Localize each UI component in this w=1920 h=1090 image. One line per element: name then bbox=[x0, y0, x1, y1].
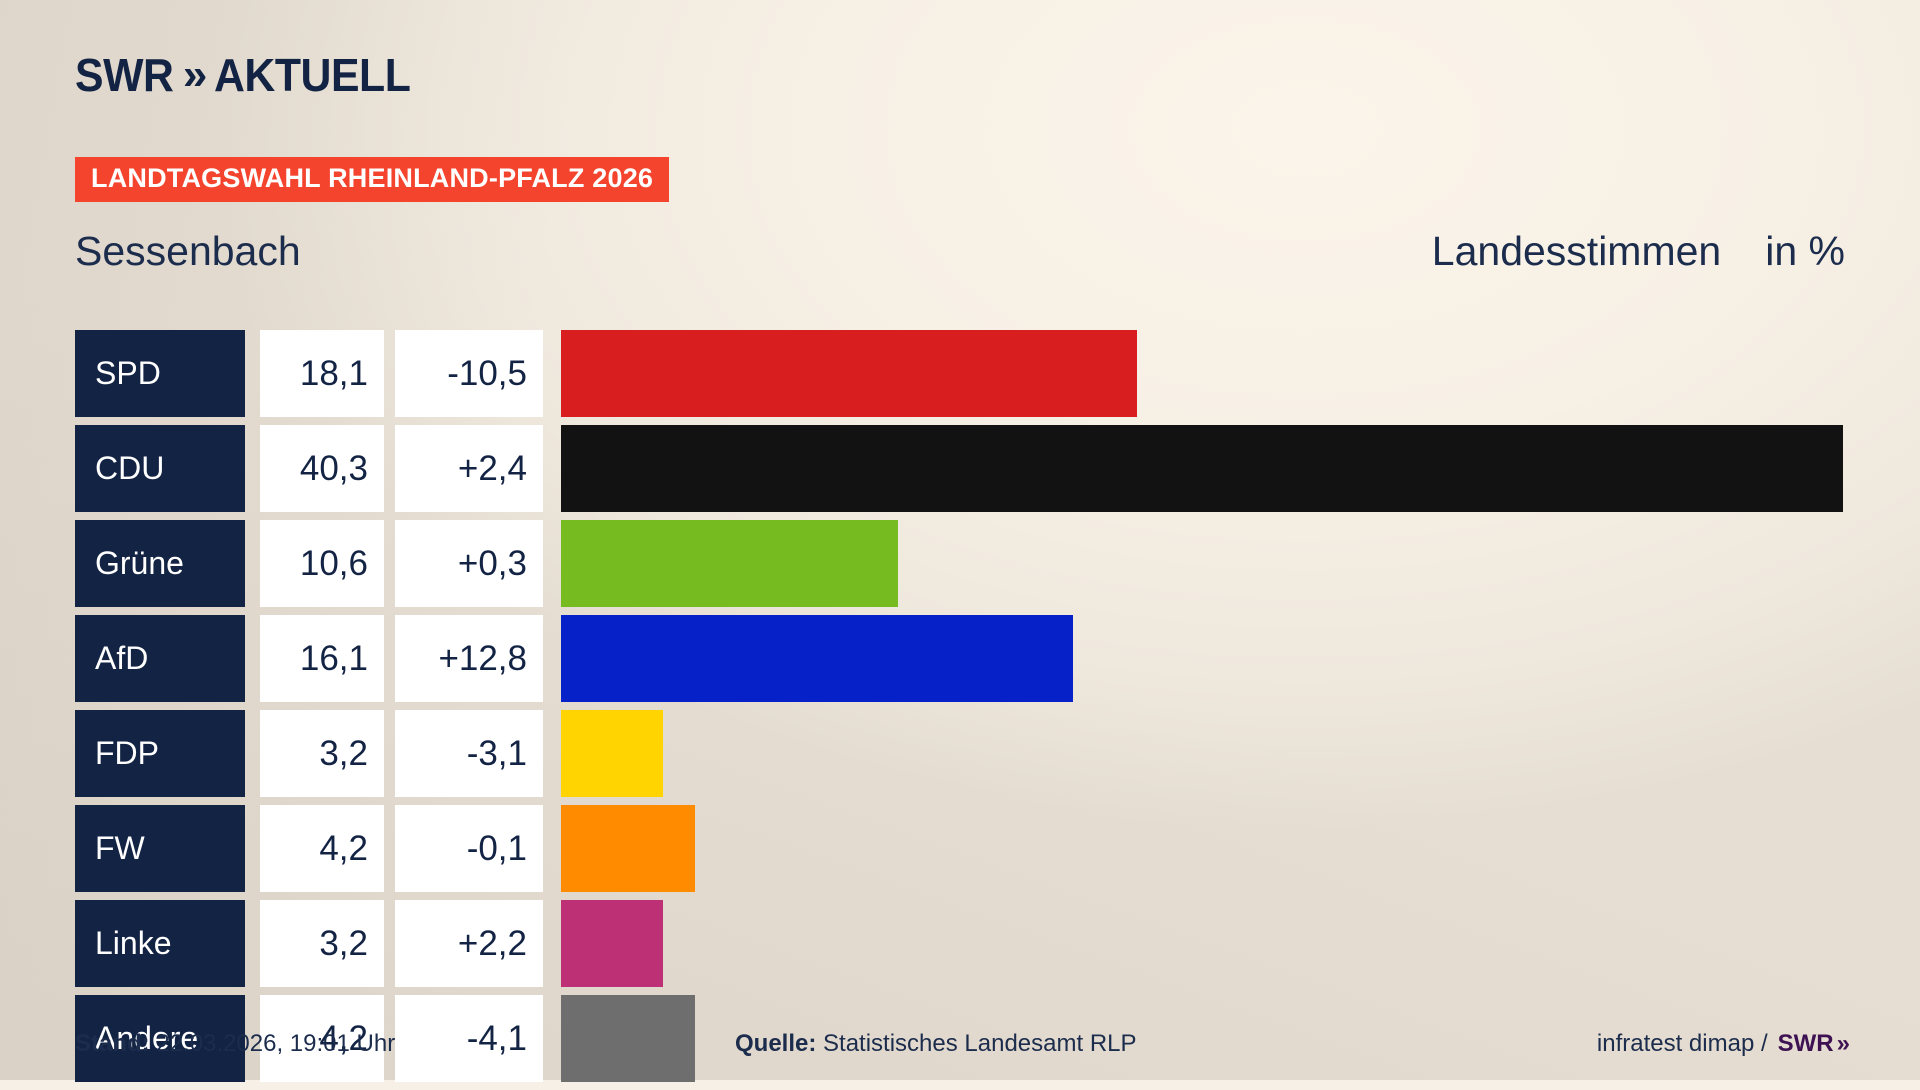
credit-chevron-icon: » bbox=[1837, 1030, 1845, 1058]
party-label: AfD bbox=[75, 615, 245, 702]
party-vote-change: +2,2 bbox=[395, 900, 543, 987]
bar-track bbox=[561, 330, 1851, 417]
party-vote-share: 4,2 bbox=[260, 805, 384, 892]
stand-label: Stand: bbox=[75, 1030, 150, 1057]
party-vote-share: 18,1 bbox=[260, 330, 384, 417]
result-bar bbox=[561, 900, 663, 987]
logo-swr-text: SWR bbox=[75, 48, 173, 102]
result-bar bbox=[561, 710, 663, 797]
party-vote-change: +0,3 bbox=[395, 520, 543, 607]
result-bar bbox=[561, 425, 1843, 512]
party-label: FDP bbox=[75, 710, 245, 797]
party-vote-share: 40,3 bbox=[260, 425, 384, 512]
bar-track bbox=[561, 520, 1851, 607]
result-bar bbox=[561, 995, 695, 1082]
party-label: SPD bbox=[75, 330, 245, 417]
quelle-label: Quelle: bbox=[735, 1030, 816, 1057]
party-vote-change: -4,1 bbox=[395, 995, 543, 1082]
chart-header-right: Landesstimmen in % bbox=[1432, 228, 1845, 275]
bar-track bbox=[561, 615, 1851, 702]
bar-track bbox=[561, 425, 1851, 512]
election-banner: LANDTAGSWAHL RHEINLAND-PFALZ 2026 bbox=[75, 157, 669, 202]
stand-value: 22.03.2026, 19:01 Uhr bbox=[156, 1030, 395, 1057]
bar-track bbox=[561, 900, 1851, 987]
party-vote-change: -10,5 bbox=[395, 330, 543, 417]
credit-swr-logo: SWR» bbox=[1778, 1030, 1845, 1058]
unit-label: in % bbox=[1765, 228, 1845, 275]
party-vote-change: +2,4 bbox=[395, 425, 543, 512]
party-vote-change: +12,8 bbox=[395, 615, 543, 702]
result-bar bbox=[561, 615, 1073, 702]
party-label: Grüne bbox=[75, 520, 245, 607]
municipality-title: Sessenbach bbox=[75, 228, 301, 275]
credit-text: infratest dimap / bbox=[1597, 1030, 1768, 1058]
credit-swr-text: SWR bbox=[1778, 1030, 1834, 1058]
party-label: CDU bbox=[75, 425, 245, 512]
party-label: FW bbox=[75, 805, 245, 892]
bar-track bbox=[561, 805, 1851, 892]
bar-track bbox=[561, 710, 1851, 797]
infographic-page: SWR»AKTUELL LANDTAGSWAHL RHEINLAND-PFALZ… bbox=[0, 0, 1920, 1080]
logo-chevron-icon: » bbox=[183, 53, 200, 97]
party-vote-change: -0,1 bbox=[395, 805, 543, 892]
credit-info: infratest dimap / SWR» bbox=[1597, 1030, 1845, 1058]
source-info: Quelle: Statistisches Landesamt RLP bbox=[735, 1030, 1137, 1058]
timestamp-info: Stand: 22.03.2026, 19:01 Uhr bbox=[75, 1030, 395, 1058]
result-bar bbox=[561, 805, 695, 892]
result-bar bbox=[561, 330, 1137, 417]
swr-aktuell-logo: SWR»AKTUELL bbox=[75, 48, 425, 102]
result-bar bbox=[561, 520, 898, 607]
logo-aktuell-text: AKTUELL bbox=[214, 48, 410, 102]
vote-type-label: Landesstimmen bbox=[1432, 228, 1721, 275]
quelle-value: Statistisches Landesamt RLP bbox=[823, 1030, 1137, 1057]
party-label: Linke bbox=[75, 900, 245, 987]
party-vote-share: 3,2 bbox=[260, 900, 384, 987]
party-vote-change: -3,1 bbox=[395, 710, 543, 797]
party-vote-share: 10,6 bbox=[260, 520, 384, 607]
party-vote-share: 3,2 bbox=[260, 710, 384, 797]
party-vote-share: 16,1 bbox=[260, 615, 384, 702]
